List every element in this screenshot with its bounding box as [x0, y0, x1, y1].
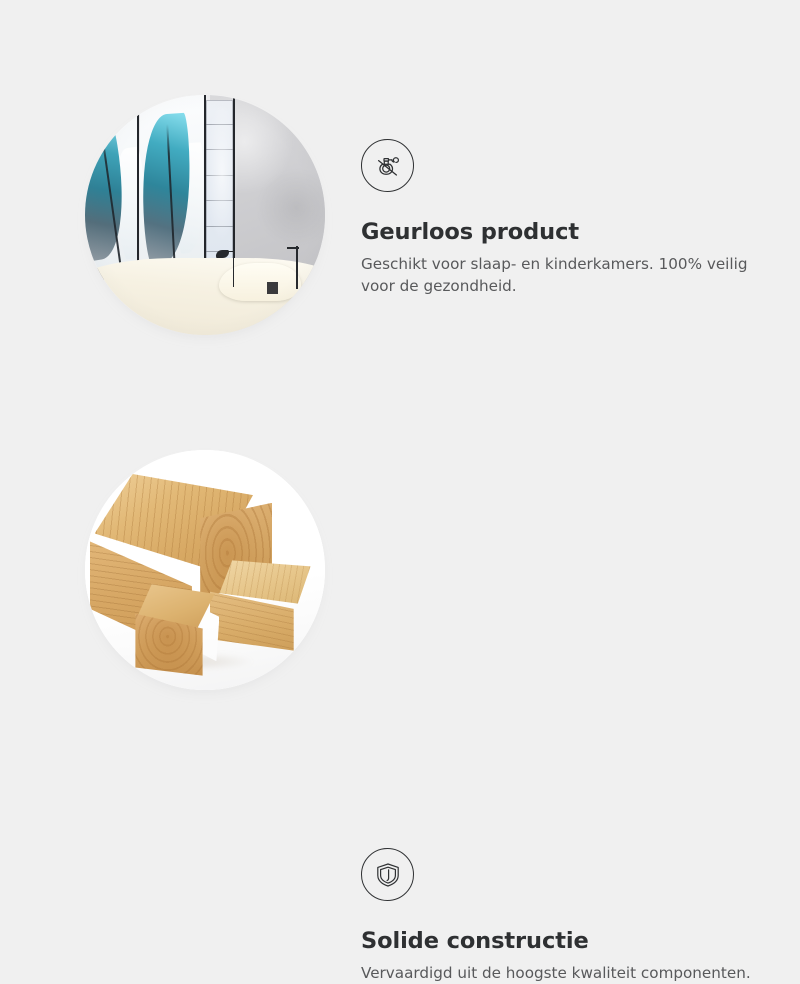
photo-vignette: [85, 95, 325, 335]
feature-description: Geschikt voor slaap- en kinderkamers. 10…: [361, 253, 753, 297]
feature-highlights-page: Geurloos product Geschikt voor slaap- en…: [0, 0, 800, 800]
wooden-blocks-scene: [85, 450, 325, 690]
circular-photo-frame: [85, 95, 325, 335]
feature-text-odourless-product: Geurloos product Geschikt voor slaap- en…: [361, 139, 761, 297]
feature-text-solid-construction: Solide constructie Vervaardigd uit de ho…: [361, 848, 761, 984]
feature-description: Vervaardigd uit de hoogste kwaliteit com…: [361, 962, 753, 984]
feature-block-solid-construction: Solide constructie Vervaardigd uit de ho…: [0, 425, 800, 725]
product-photo-solid-construction: [85, 450, 325, 690]
feature-block-odourless-product: Geurloos product Geschikt voor slaap- en…: [0, 70, 800, 370]
circular-photo-frame: [85, 450, 325, 690]
shield-icon: [361, 848, 414, 901]
product-photo-odourless: [85, 95, 325, 335]
feature-title: Solide constructie: [361, 930, 761, 953]
bedroom-scene: [85, 95, 325, 335]
feature-title: Geurloos product: [361, 221, 761, 244]
no-perfume-icon: [361, 139, 414, 192]
